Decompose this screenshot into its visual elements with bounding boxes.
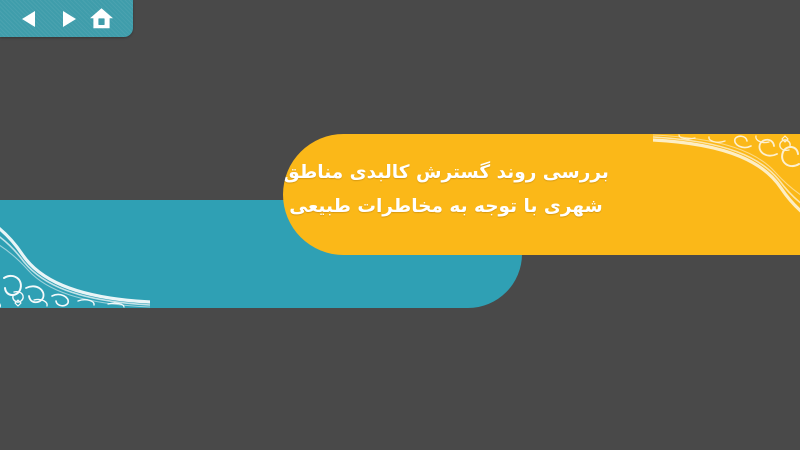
- back-arrow-icon: [21, 10, 37, 28]
- forward-button[interactable]: [54, 5, 84, 33]
- title-banner: بررسی روند گسترش کالبدی مناطق شهری با تو…: [283, 134, 800, 255]
- arabesque-corner-ornament-icon: [0, 200, 150, 308]
- navigation-bar: [0, 0, 133, 37]
- back-button[interactable]: [14, 5, 44, 33]
- slide-canvas: بررسی روند گسترش کالبدی مناطق شهری با تو…: [0, 0, 800, 450]
- home-button[interactable]: [86, 5, 116, 33]
- page-title: بررسی روند گسترش کالبدی مناطق شهری با تو…: [283, 156, 611, 224]
- home-icon: [89, 7, 114, 30]
- forward-arrow-icon: [61, 10, 77, 28]
- arabesque-corner-ornament-icon: [653, 134, 800, 242]
